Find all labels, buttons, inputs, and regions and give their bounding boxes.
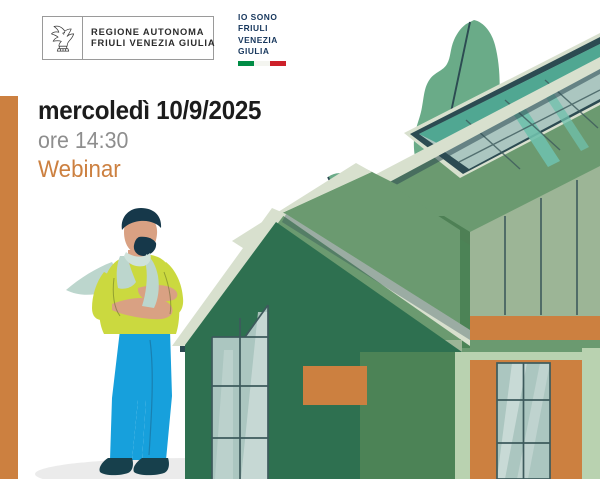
front-orange-panel xyxy=(303,366,367,405)
italian-flag-icon xyxy=(238,61,286,66)
logo-regione-line2: FRIULI VENEZIA GIULIA xyxy=(91,38,215,49)
left-accent-bar xyxy=(0,96,18,479)
logo-regione-wordmark: REGIONE AUTONOMA FRIULI VENEZIA GIULIA xyxy=(83,27,215,49)
header-logo-row: REGIONE AUTONOMA FRIULI VENEZIA GIULIA I… xyxy=(0,0,600,92)
eagle-crest-icon xyxy=(43,17,83,59)
webinar-poster: REGIONE AUTONOMA FRIULI VENEZIA GIULIA I… xyxy=(0,0,600,479)
event-text-block: mercoledì 10/9/2025 ore 14:30 Webinar xyxy=(38,96,278,185)
right-entry-window xyxy=(470,360,582,479)
logo-regione-autonoma: REGIONE AUTONOMA FRIULI VENEZIA GIULIA xyxy=(42,16,214,60)
logo-iosono-line1: IO SONO xyxy=(238,12,294,23)
event-time: ore 14:30 xyxy=(38,127,261,155)
event-date: mercoledì 10/9/2025 xyxy=(38,96,261,125)
logo-io-sono-fvg: IO SONO FRIULI VENEZIA GIULIA xyxy=(238,12,294,66)
logo-iosono-line2: FRIULI xyxy=(238,23,294,34)
event-type-label: Webinar xyxy=(38,156,261,185)
logo-iosono-line4: GIULIA xyxy=(238,46,294,57)
logo-iosono-line3: VENEZIA xyxy=(238,35,294,46)
logo-regione-line1: REGIONE AUTONOMA xyxy=(91,27,215,38)
